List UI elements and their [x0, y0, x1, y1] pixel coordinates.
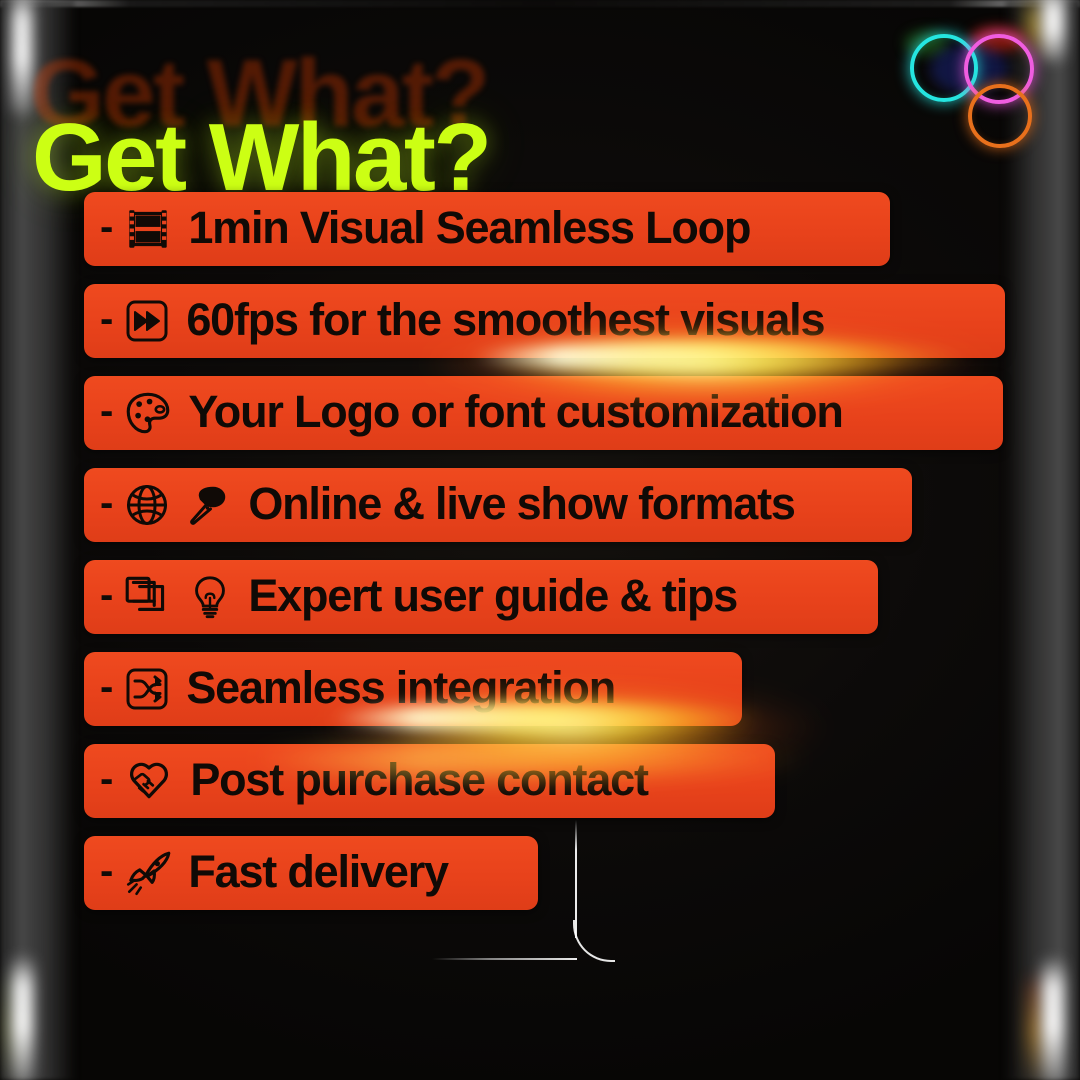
bullet-dash: - [100, 483, 113, 523]
feature-icons [122, 296, 172, 346]
feature-label: Post purchase contact [190, 757, 647, 802]
feature-row[interactable]: -Post purchase contact [84, 744, 775, 818]
bullet-dash: - [100, 667, 113, 707]
feature-row[interactable]: -1min Visual Seamless Loop [84, 192, 890, 266]
lightbulb-icon [186, 573, 234, 621]
feature-row[interactable]: -Fast delivery [84, 836, 538, 910]
bullet-dash: - [100, 299, 113, 339]
globe-icon [122, 480, 172, 530]
handshake-icon [122, 754, 176, 808]
feature-label: 60fps for the smoothest visuals [186, 297, 824, 342]
feature-row[interactable]: -Seamless integration [84, 652, 742, 726]
feature-row[interactable]: -Expert user guide & tips [84, 560, 878, 634]
feature-icons [122, 847, 174, 899]
feature-icons [122, 754, 176, 808]
poster-canvas: Get What? Get What? -1min Visual Seamles… [0, 0, 1080, 1080]
feature-icons [122, 387, 174, 439]
bullet-dash: - [100, 575, 113, 615]
bullet-dash: - [100, 851, 113, 891]
fast-forward-icon [122, 296, 172, 346]
shuffle-icon [122, 664, 172, 714]
bullet-dash: - [100, 207, 113, 247]
feature-icons [122, 571, 234, 623]
feature-label: Your Logo or font customization [188, 389, 842, 434]
feature-label: Online & live show formats [248, 481, 794, 526]
feature-label: Expert user guide & tips [248, 573, 737, 618]
feature-row[interactable]: -Your Logo or font customization [84, 376, 1003, 450]
feature-label: 1min Visual Seamless Loop [188, 205, 750, 250]
palette-icon [122, 387, 174, 439]
bullet-dash: - [100, 759, 113, 799]
feature-icons [122, 480, 234, 530]
film-frames-icon [122, 203, 174, 255]
feature-row[interactable]: -Online & live show formats [84, 468, 912, 542]
feature-label: Seamless integration [186, 665, 615, 710]
feature-row[interactable]: -60fps for the smoothest visuals [84, 284, 1005, 358]
feature-list: -1min Visual Seamless Loop-60fps for the… [0, 0, 1080, 1080]
feature-icons [122, 203, 174, 255]
bullet-dash: - [100, 391, 113, 431]
stacked-pages-icon [122, 571, 174, 623]
feature-icons [122, 664, 172, 714]
rocket-icon [122, 847, 174, 899]
feature-label: Fast delivery [188, 849, 448, 894]
microphone-icon [184, 480, 234, 530]
